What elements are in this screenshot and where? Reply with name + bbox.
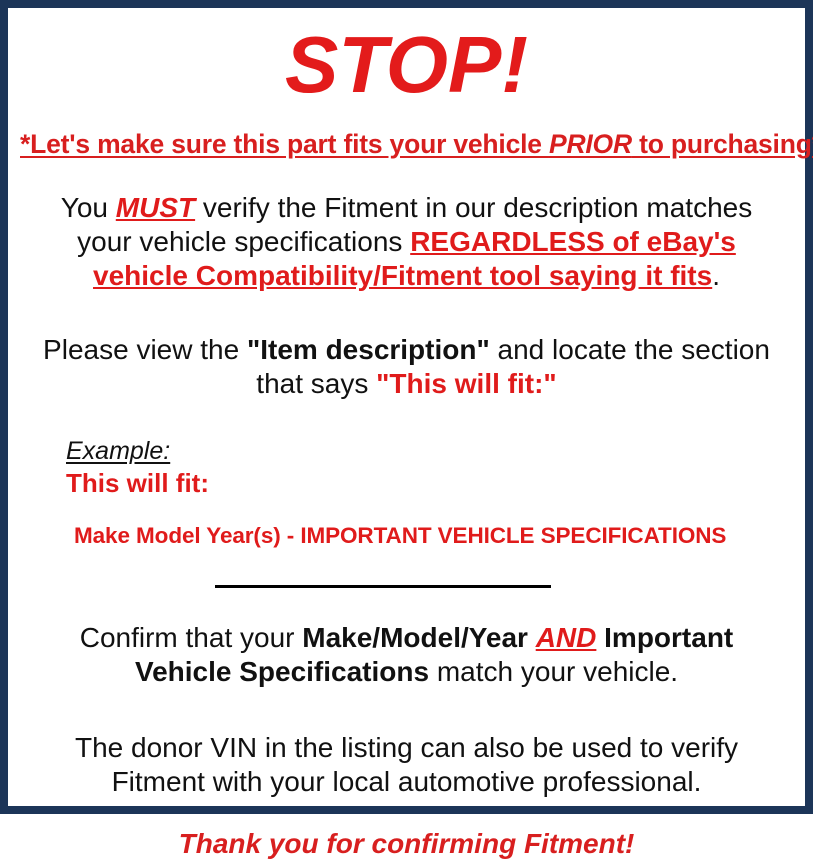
- please-seg-1: Please view the: [43, 334, 247, 365]
- fitment-notice-card: STOP! *Let's make sure this part fits yo…: [0, 0, 813, 814]
- page-title: STOP!: [20, 24, 793, 106]
- subtitle-banner: *Let's make sure this part fits your veh…: [20, 130, 793, 159]
- must-verify-paragraph: You MUST verify the Fitment in our descr…: [20, 191, 793, 293]
- this-will-fit-quote: "This will fit:": [376, 368, 557, 399]
- make-model-year-label: Make/Model/Year: [302, 622, 528, 653]
- must-keyword: MUST: [116, 192, 195, 223]
- confirm-seg-1: Confirm that your: [80, 622, 303, 653]
- example-fitment-line: Make Model Year(s) - IMPORTANT VEHICLE S…: [66, 522, 793, 549]
- section-divider: [215, 585, 551, 588]
- notice-content: STOP! *Let's make sure this part fits yo…: [8, 8, 805, 806]
- subtitle-text-after: to purchasing*: [632, 129, 813, 159]
- example-this-will-fit-heading: This will fit:: [66, 467, 793, 500]
- example-label: Example:: [66, 438, 793, 466]
- divider-wrapper: [20, 575, 793, 593]
- subtitle-emphasis-prior: PRIOR: [549, 129, 632, 159]
- closing-thanks: Thank you for confirming Fitment!: [20, 827, 793, 861]
- confirm-paragraph: Confirm that your Make/Model/Year AND Im…: [20, 621, 793, 689]
- subtitle-text-before: *Let's make sure this part fits your veh…: [20, 129, 549, 159]
- confirm-seg-5: match your vehicle.: [429, 656, 678, 687]
- item-description-label: "Item description": [247, 334, 490, 365]
- example-block: Example: This will fit: Make Model Year(…: [20, 438, 793, 549]
- donor-vin-paragraph: The donor VIN in the listing can also be…: [20, 731, 793, 799]
- and-keyword: AND: [536, 622, 597, 653]
- must-seg-5: .: [712, 260, 720, 291]
- please-view-paragraph: Please view the "Item description" and l…: [20, 333, 793, 401]
- must-seg-1: You: [61, 192, 116, 223]
